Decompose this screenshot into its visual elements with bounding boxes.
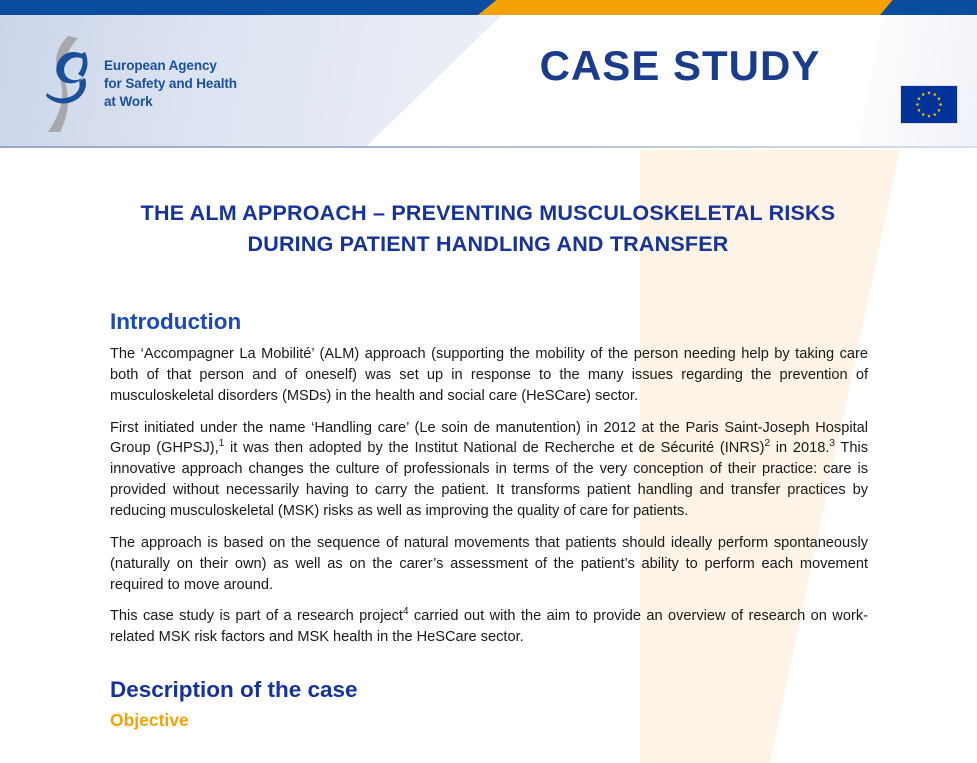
topbar-orange-segment <box>478 0 896 15</box>
page-title: THE ALM APPROACH – PREVENTING MUSCULOSKE… <box>108 198 868 260</box>
sub-heading-objective: Objective <box>110 710 868 731</box>
header-divider-rule <box>0 146 977 148</box>
paragraph-1: The ‘Accompagner La Mobilité’ (ALM) appr… <box>110 344 868 407</box>
document-content: Introduction The ‘Accompagner La Mobilit… <box>110 308 868 731</box>
top-color-bar <box>0 0 977 15</box>
section-spacer <box>110 648 868 676</box>
eu-osha-logo-wordmark: European Agency for Safety and Health at… <box>104 57 237 110</box>
paragraph-4: This case study is part of a research pr… <box>110 606 868 648</box>
topbar-blue-right-segment <box>880 0 977 15</box>
logo-line-1: European Agency <box>104 58 217 73</box>
topbar-blue-left-segment <box>0 0 500 15</box>
european-union-flag-icon <box>900 85 958 124</box>
logo-line-3: at Work <box>104 94 153 109</box>
logo-line-2: for Safety and Health <box>104 76 237 91</box>
eu-osha-logo-icon <box>38 34 96 134</box>
header-gradient-right <box>857 15 977 148</box>
section-heading-introduction: Introduction <box>110 308 868 335</box>
document-page: European Agency for Safety and Health at… <box>0 0 977 763</box>
document-body: THE ALM APPROACH – PREVENTING MUSCULOSKE… <box>0 150 977 763</box>
paragraph-2: First initiated under the name ‘Handling… <box>110 418 868 522</box>
eu-osha-logo: European Agency for Safety and Health at… <box>38 32 238 136</box>
section-heading-description: Description of the case <box>110 676 868 703</box>
document-type-label: CASE STUDY <box>500 42 860 90</box>
paragraph-3: The approach is based on the sequence of… <box>110 533 868 596</box>
